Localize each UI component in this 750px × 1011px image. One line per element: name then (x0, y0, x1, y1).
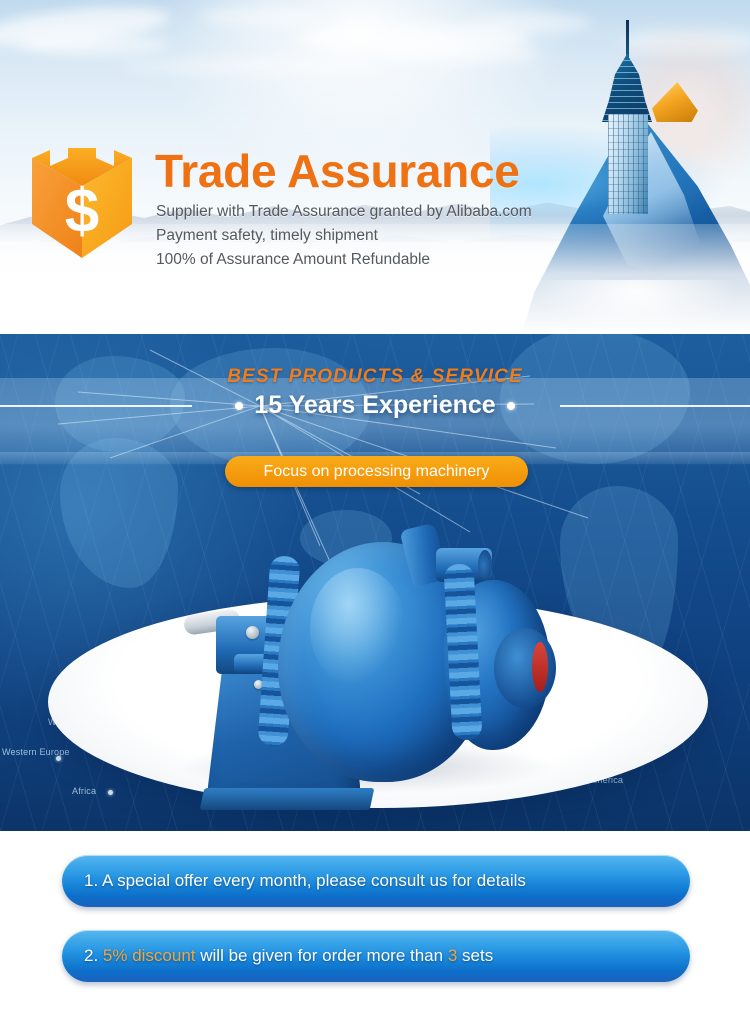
pump-outlet-face (478, 550, 492, 580)
pump-casing-highlight (310, 568, 406, 688)
tower-body (608, 114, 648, 214)
page-title: Trade Assurance (155, 148, 520, 194)
pump-bolt (246, 626, 259, 639)
offer-text-2: 2. 5% discount will be given for order m… (62, 946, 493, 966)
offer-2-highlight-discount: 5% discount (103, 946, 196, 965)
offer-button-2[interactable]: 2. 5% discount will be given for order m… (62, 930, 690, 982)
cloud-decor (200, 8, 320, 26)
trade-assurance-bullets: Supplier with Trade Assurance granted by… (156, 200, 576, 272)
svg-text:$: $ (65, 177, 99, 246)
banner-subheadline: 15 Years Experience (254, 391, 495, 420)
focus-pill-badge: Focus on processing machinery (225, 456, 528, 487)
offer-2-segment-3: will be given for order more than (196, 946, 448, 965)
bullet-dot-right (507, 402, 515, 410)
cloud-decor (120, 58, 380, 74)
offer-button-1[interactable]: 1. A special offer every month, please c… (62, 855, 690, 907)
tower-crown (602, 54, 652, 122)
pump-foot (200, 788, 375, 810)
crystal-tower (600, 24, 654, 214)
product-detail-page: $ Trade Assurance Supplier with Trade As… (0, 0, 750, 1011)
ta-line-1: Supplier with Trade Assurance granted by… (156, 200, 576, 224)
offer-1-segment-1: 1. A special offer every month, please c… (84, 871, 526, 890)
pump-red-marker (532, 642, 548, 692)
offer-text-1: 1. A special offer every month, please c… (62, 871, 526, 891)
offer-2-highlight-qty: 3 (448, 946, 457, 965)
cloud-decor (20, 34, 170, 56)
cloud-decor (470, 12, 590, 34)
shield-dollar-icon: $ (28, 146, 136, 264)
banner-headline: BEST PRODUCTS & SERVICE (0, 366, 750, 388)
map-label-western-europe-2: Western Europe (2, 747, 70, 757)
cloud-decor (380, 44, 540, 64)
map-node-dot (108, 790, 113, 795)
trade-assurance-banner: $ Trade Assurance Supplier with Trade As… (0, 0, 750, 334)
bullet-dot-left (235, 402, 243, 410)
map-label-africa: Africa (72, 786, 96, 796)
offers-section: 1. A special offer every month, please c… (0, 831, 750, 1011)
banner-subheadline-row: 15 Years Experience (0, 391, 750, 420)
offer-2-segment-1: 2. (84, 946, 103, 965)
ta-line-2: Payment safety, timely shipment (156, 224, 576, 248)
offer-2-segment-5: sets (457, 946, 493, 965)
blue-gravel-slurry-pump (160, 520, 580, 820)
ta-line-3: 100% of Assurance Amount Refundable (156, 248, 576, 272)
